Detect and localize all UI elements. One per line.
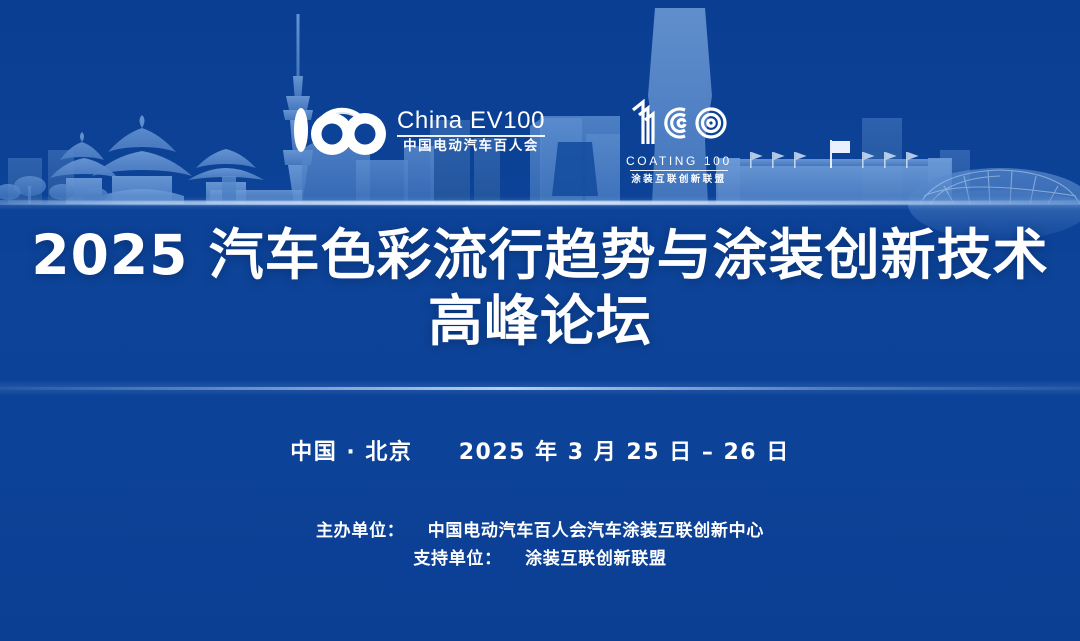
coating-100-logo-mark: [627, 96, 731, 150]
event-location: 中国 · 北京: [290, 440, 412, 465]
title-line-1: 2025 汽车色彩流行趋势与涂装创新技术: [0, 222, 1080, 288]
coating-100-rule: [630, 170, 728, 171]
poster-title: 2025 汽车色彩流行趋势与涂装创新技术 高峰论坛: [0, 222, 1080, 354]
support-label: 支持单位：: [413, 549, 502, 569]
organizer-block: 主办单位： 中国电动汽车百人会汽车涂装互联创新中心 支持单位： 涂装互联创新联盟: [0, 518, 1080, 573]
coating-100-logo: COATING 100 涂装互联创新联盟: [626, 96, 732, 184]
china-ev100-wordmark: China EV100 中国电动汽车百人会: [397, 107, 545, 152]
host-label: 主办单位：: [316, 521, 405, 541]
horizon-line: [0, 201, 1080, 205]
section-divider: [0, 387, 1080, 390]
host-value: 中国电动汽车百人会汽车涂装互联创新中心: [428, 521, 764, 541]
event-date-location: 中国 · 北京 2025 年 3 月 25 日 – 26 日: [0, 434, 1080, 466]
china-ev100-rule: [397, 135, 545, 137]
conference-poster: China EV100 中国电动汽车百人会: [0, 0, 1080, 641]
china-ev100-chinese: 中国电动汽车百人会: [403, 139, 539, 153]
china-ev100-logo: China EV100 中国电动汽车百人会: [292, 100, 545, 160]
title-line-2: 高峰论坛: [0, 288, 1080, 354]
support-value: 涂装互联创新联盟: [525, 549, 667, 569]
organizer-row-host: 主办单位： 中国电动汽车百人会汽车涂装互联创新中心: [0, 518, 1080, 546]
event-dates: 2025 年 3 月 25 日 – 26 日: [459, 440, 790, 465]
coating-100-chinese: 涂装互联创新联盟: [631, 175, 726, 185]
organizer-row-support: 支持单位： 涂装互联创新联盟: [0, 546, 1080, 574]
china-ev100-english: China EV100: [397, 109, 545, 133]
china-ev100-logo-mark: [292, 100, 388, 160]
coating-100-english: COATING 100: [626, 155, 732, 167]
logo-row: China EV100 中国电动汽车百人会: [0, 92, 1080, 184]
